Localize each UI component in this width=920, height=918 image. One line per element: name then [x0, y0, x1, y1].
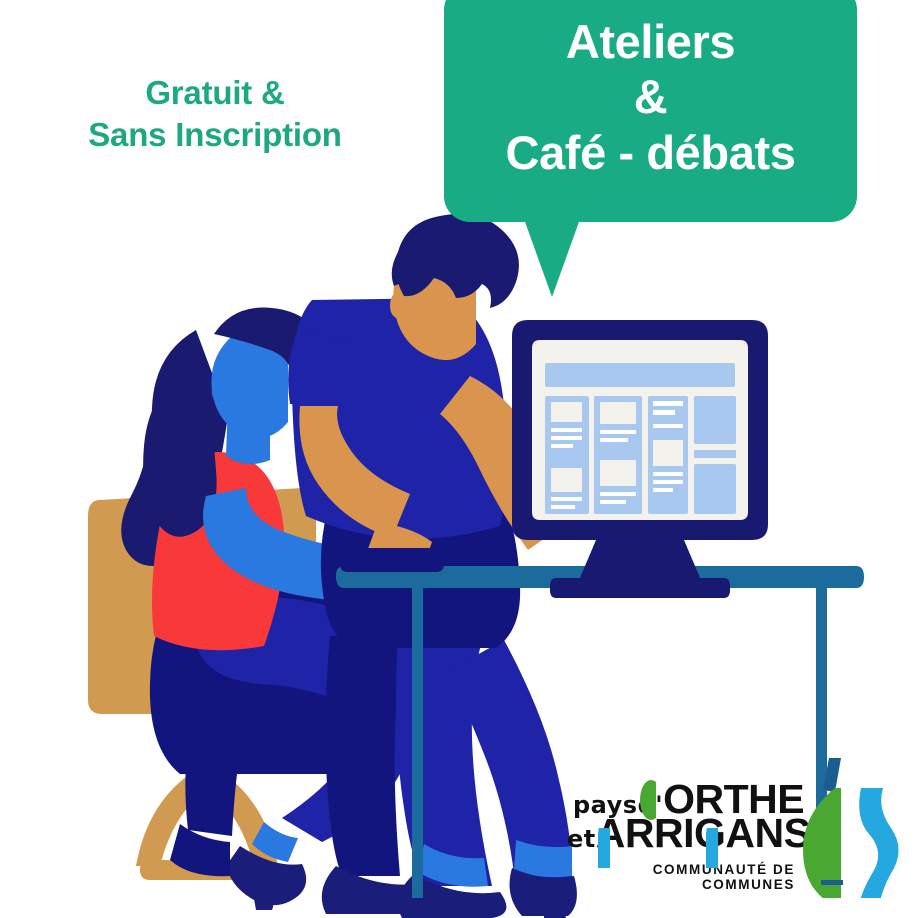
- logo-word-et: et: [567, 825, 596, 853]
- speech-bubble: Ateliers & Café - débats: [444, 0, 857, 222]
- logo-mark-leaf-river-icon: [791, 756, 903, 898]
- logo-line-arrigans: etARRIGANS: [567, 810, 795, 857]
- tagline-text: Gratuit & Sans Inscription: [0, 72, 430, 156]
- logo-pays-dorthe-et-arrigans[interactable]: paysd'ORTHE etARRIGANS COMMUNAUTÉ DE COM…: [573, 770, 903, 898]
- speech-bubble-tail-icon: [524, 219, 580, 297]
- speech-bubble-text: Ateliers & Café - débats: [444, 14, 857, 180]
- poster-canvas: Gratuit & Sans Inscription Ateliers & Ca…: [0, 0, 920, 918]
- logo-subtitle: COMMUNAUTÉ DE COMMUNES: [573, 862, 795, 892]
- computer-monitor: [512, 320, 768, 598]
- screen-ui-wireframe: [545, 363, 736, 514]
- standing-man-legs: [322, 634, 577, 918]
- logo-word-arrigans: ARRIGANS: [596, 810, 811, 856]
- keyboard-device: [340, 548, 444, 572]
